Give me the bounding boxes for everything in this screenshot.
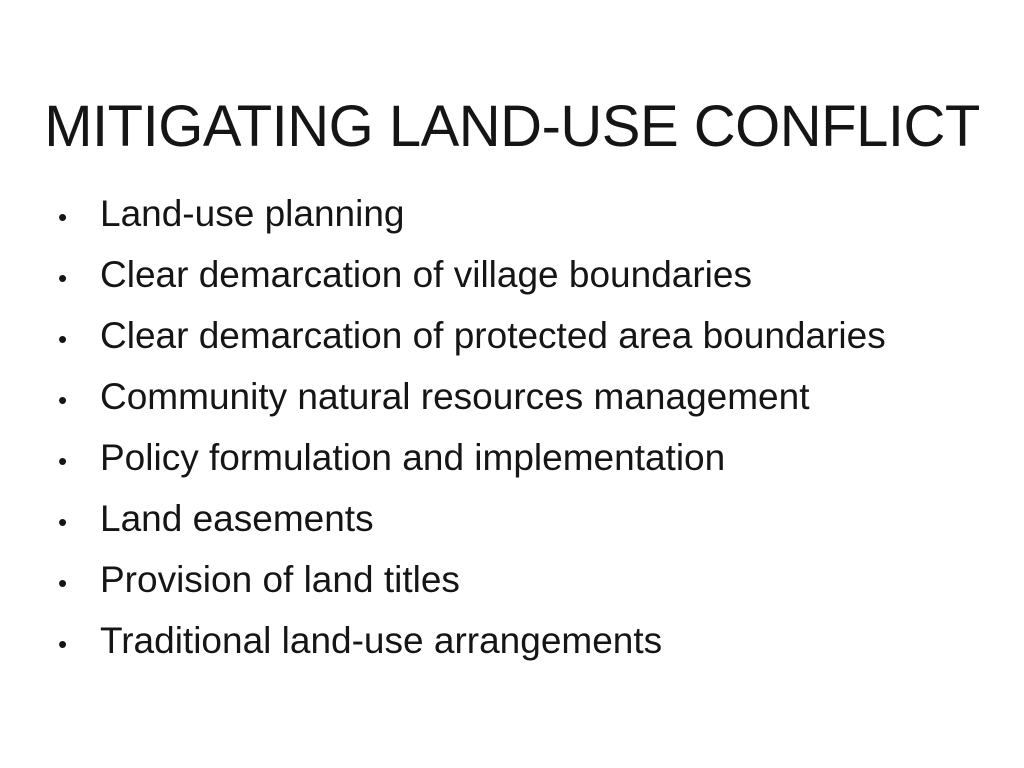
list-item: • Traditional land-use arrangements [58, 610, 988, 671]
slide-canvas: MITIGATING LAND-USE CONFLICT • Land-use … [0, 0, 1024, 768]
list-item-label: Land easements [100, 488, 374, 549]
list-item-label: Land-use planning [100, 183, 404, 244]
list-item: • Clear demarcation of protected area bo… [58, 305, 988, 366]
bullet-icon: • [58, 553, 100, 614]
bullet-icon: • [58, 248, 100, 309]
bullet-icon: • [58, 431, 100, 492]
list-item-label: Clear demarcation of village boundaries [100, 244, 752, 305]
bullet-icon: • [58, 309, 100, 370]
list-item: • Provision of land titles [58, 549, 988, 610]
list-item-label: Provision of land titles [100, 549, 460, 610]
page-title: MITIGATING LAND-USE CONFLICT [40, 95, 984, 159]
list-item-label: Traditional land-use arrangements [100, 610, 662, 671]
list-item-label: Policy formulation and implementation [100, 427, 725, 488]
list-item: • Land-use planning [58, 183, 988, 244]
list-item: • Policy formulation and implementation [58, 427, 988, 488]
list-item: • Land easements [58, 488, 988, 549]
list-item: • Clear demarcation of village boundarie… [58, 244, 988, 305]
list-item: • Community natural resources management [58, 366, 988, 427]
bullet-icon: • [58, 187, 100, 248]
bullet-icon: • [58, 370, 100, 431]
list-item-label: Clear demarcation of protected area boun… [100, 305, 886, 366]
bullet-icon: • [58, 492, 100, 553]
bullet-list: • Land-use planning • Clear demarcation … [58, 183, 988, 671]
list-item-label: Community natural resources management [100, 366, 810, 427]
bullet-icon: • [58, 614, 100, 675]
